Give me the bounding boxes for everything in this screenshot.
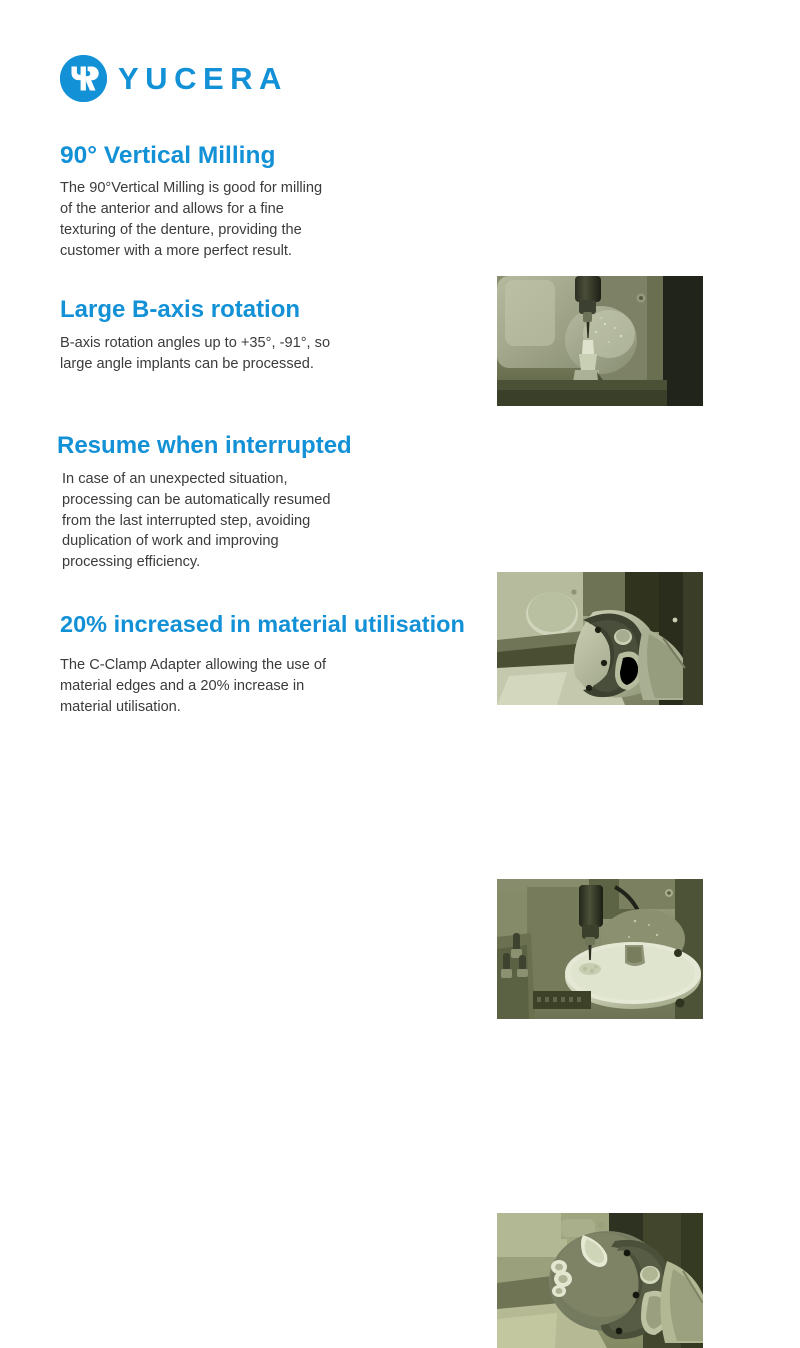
feature-title: Large B-axis rotation	[60, 297, 390, 324]
c-clamp-adapter-photo	[497, 1213, 703, 1348]
feature-text-group: 20% increased in material utilisation Th…	[60, 605, 490, 718]
brand-logo: YUCERA	[60, 55, 288, 102]
feature-description: The C-Clamp Adapter allowing the use of …	[60, 655, 490, 718]
brand-wordmark: YUCERA	[118, 63, 288, 94]
feature-title: 90° Vertical Milling	[60, 142, 390, 169]
yucera-yr-monogram-icon	[60, 55, 107, 102]
feature-description: B-axis rotation angles up to +35°, -91°,…	[60, 333, 390, 375]
vertical-milling-spindle-photo	[497, 276, 703, 406]
b-axis-rotation-photo	[497, 572, 703, 705]
feature-text-group: Resume when interrupted In case of an un…	[57, 433, 397, 573]
feature-title: 20% increased in material utilisation	[60, 611, 490, 637]
feature-text-group: Large B-axis rotation B-axis rotation an…	[60, 285, 390, 375]
feature-description: The 90°Vertical Milling is good for mill…	[60, 178, 390, 261]
feature-title: Resume when interrupted	[57, 433, 397, 460]
feature-description: In case of an unexpected situation, proc…	[57, 469, 397, 573]
feature-text-group: 90° Vertical Milling The 90°Vertical Mil…	[60, 138, 390, 262]
resume-milling-disc-photo	[497, 879, 703, 1019]
